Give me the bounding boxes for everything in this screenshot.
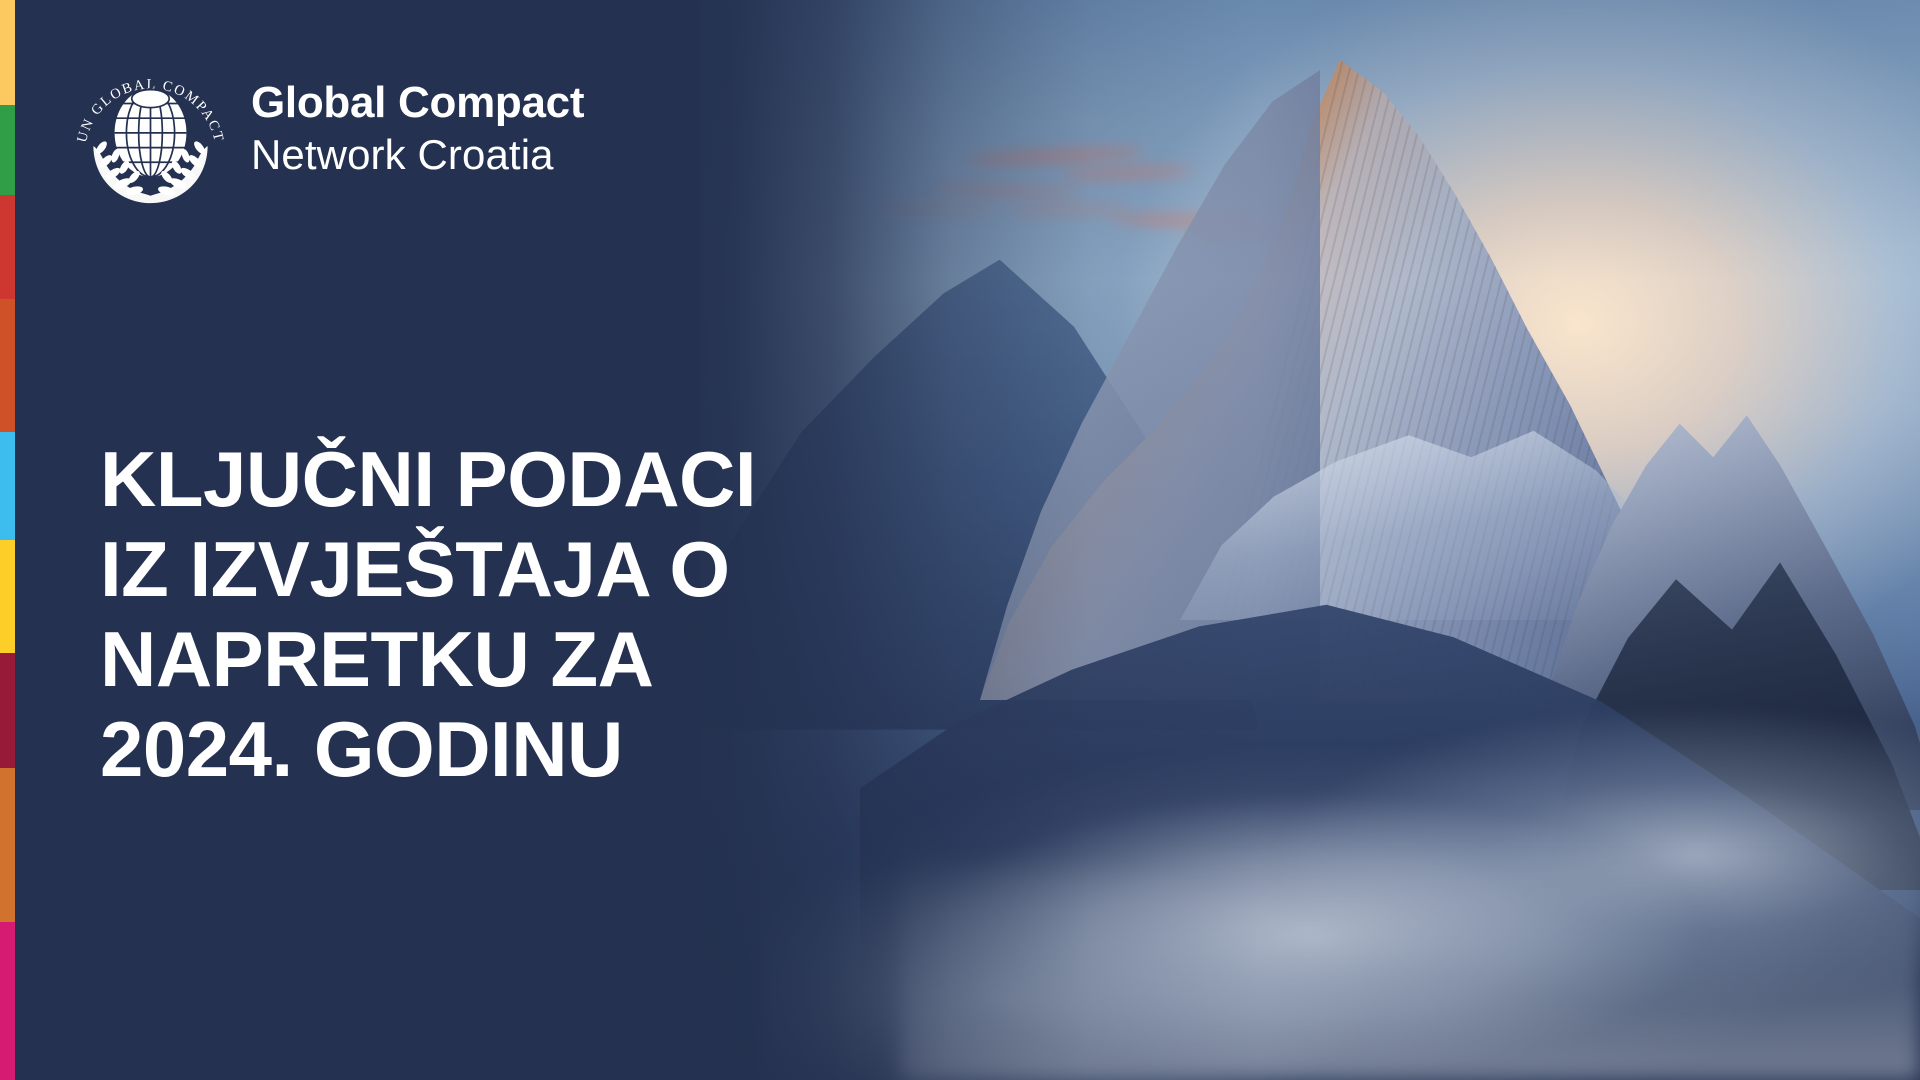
un-global-compact-emblem: UN GLOBAL COMPACT xyxy=(68,48,233,208)
sdg-stripe-segment-no-poverty-yellow xyxy=(0,0,15,105)
brand-name-primary: Global Compact xyxy=(251,81,584,125)
sdg-stripe-segment-affordable-energy-yellow xyxy=(0,540,15,653)
sdg-stripe-segment-reduced-inequalities-magenta xyxy=(0,922,15,1080)
brand-logo-lockup: UN GLOBAL COMPACT xyxy=(68,48,584,208)
sdg-stripe-segment-clean-water-cyan xyxy=(0,432,15,540)
brand-wordmark: Global Compact Network Croatia xyxy=(251,81,584,176)
sdg-colour-stripe xyxy=(0,0,15,1080)
sdg-stripe-segment-zero-hunger-green xyxy=(0,105,15,195)
sdg-stripe-segment-decent-work-maroon xyxy=(0,653,15,768)
page-title-line: IZ IZVJEŠTAJA O xyxy=(100,524,930,614)
sdg-stripe-segment-quality-education-orange xyxy=(0,299,15,432)
slide-canvas: UN GLOBAL COMPACT xyxy=(0,0,1920,1080)
page-title: KLJUČNI PODACIIZ IZVJEŠTAJA ONAPRETKU ZA… xyxy=(100,434,930,794)
brand-name-secondary: Network Croatia xyxy=(251,134,584,176)
page-title-line: 2024. GODINU xyxy=(100,704,930,794)
sdg-stripe-segment-good-health-red xyxy=(0,195,15,299)
sdg-stripe-segment-industry-orange xyxy=(0,768,15,922)
page-title-line: NAPRETKU ZA xyxy=(100,614,930,704)
page-title-line: KLJUČNI PODACI xyxy=(100,434,930,524)
